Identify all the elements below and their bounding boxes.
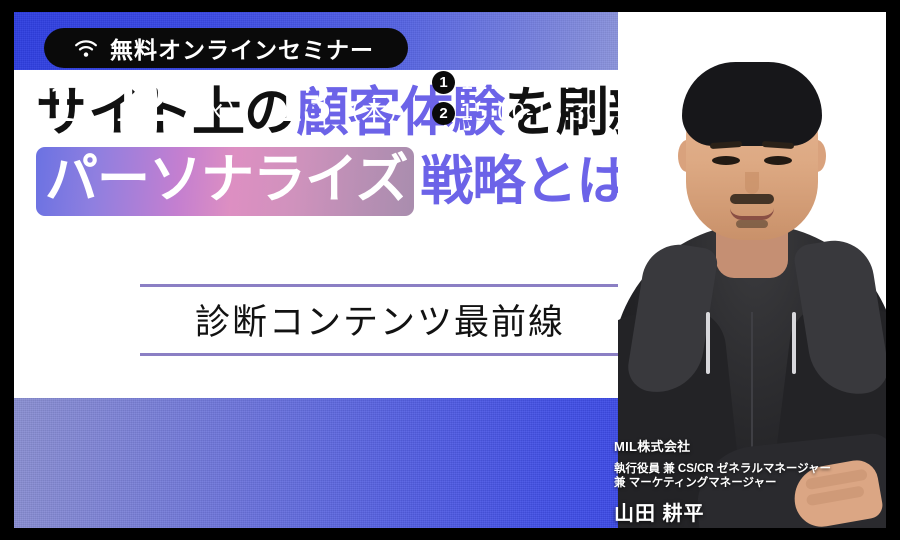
poster-frame: サイト上の顧客体験を刷新する！ パーソナライズ戦略とは？ 診断コンテンツ最前線 [14,12,886,528]
session-1-time: 12:30-13:00 [460,70,600,95]
session-1-badge: 1 [432,71,455,94]
session-row: 2 15:00-15:30 [432,101,600,126]
free-seminar-label: 無料オンラインセミナー [110,31,374,65]
subtitle-block: 診断コンテンツ最前線 [140,284,620,356]
speaker-company: MIL株式会社 [614,436,878,455]
seminar-poster: サイト上の顧客体験を刷新する！ パーソナライズ戦略とは？ 診断コンテンツ最前線 [0,0,900,540]
title-highlight-box: パーソナライズ [36,147,414,216]
date-1-number: 11.12 [48,74,168,131]
speaker-name: 山田 耕平 [614,497,878,526]
title-line-2: パーソナライズ戦略とは？ [36,147,886,216]
speaker-info: MIL株式会社 執行役員 兼 CS/CR ゼネラルマネージャー 兼 マーケティン… [606,436,878,526]
free-seminar-badge: 無料オンラインセミナー [44,28,408,68]
session-times: 1 12:30-13:00 2 15:00-15:30 [432,70,600,126]
session-2-time: 15:00-15:30 [460,101,600,126]
subtitle-text: 診断コンテンツ最前線 [140,287,620,353]
speaker-role-line-1: 執行役員 兼 CS/CR ゼネラルマネージャー [614,462,878,476]
title-line2-tail: 戦略とは？ [414,154,680,209]
date-1-dow: （水） [173,92,251,129]
date-2-dow: （木） [335,92,413,129]
event-dates: 11.12 （水） 13 （木） [48,74,413,131]
date-2-number: 13 [275,74,330,131]
session-2-badge: 2 [432,102,455,125]
speaker-role-line-2: 兼 マーケティングマネージャー [614,476,878,490]
subtitle-rule-bottom [140,353,620,356]
mil-logo [792,26,864,56]
wifi-icon [74,39,98,58]
session-row: 1 12:30-13:00 [432,70,600,95]
